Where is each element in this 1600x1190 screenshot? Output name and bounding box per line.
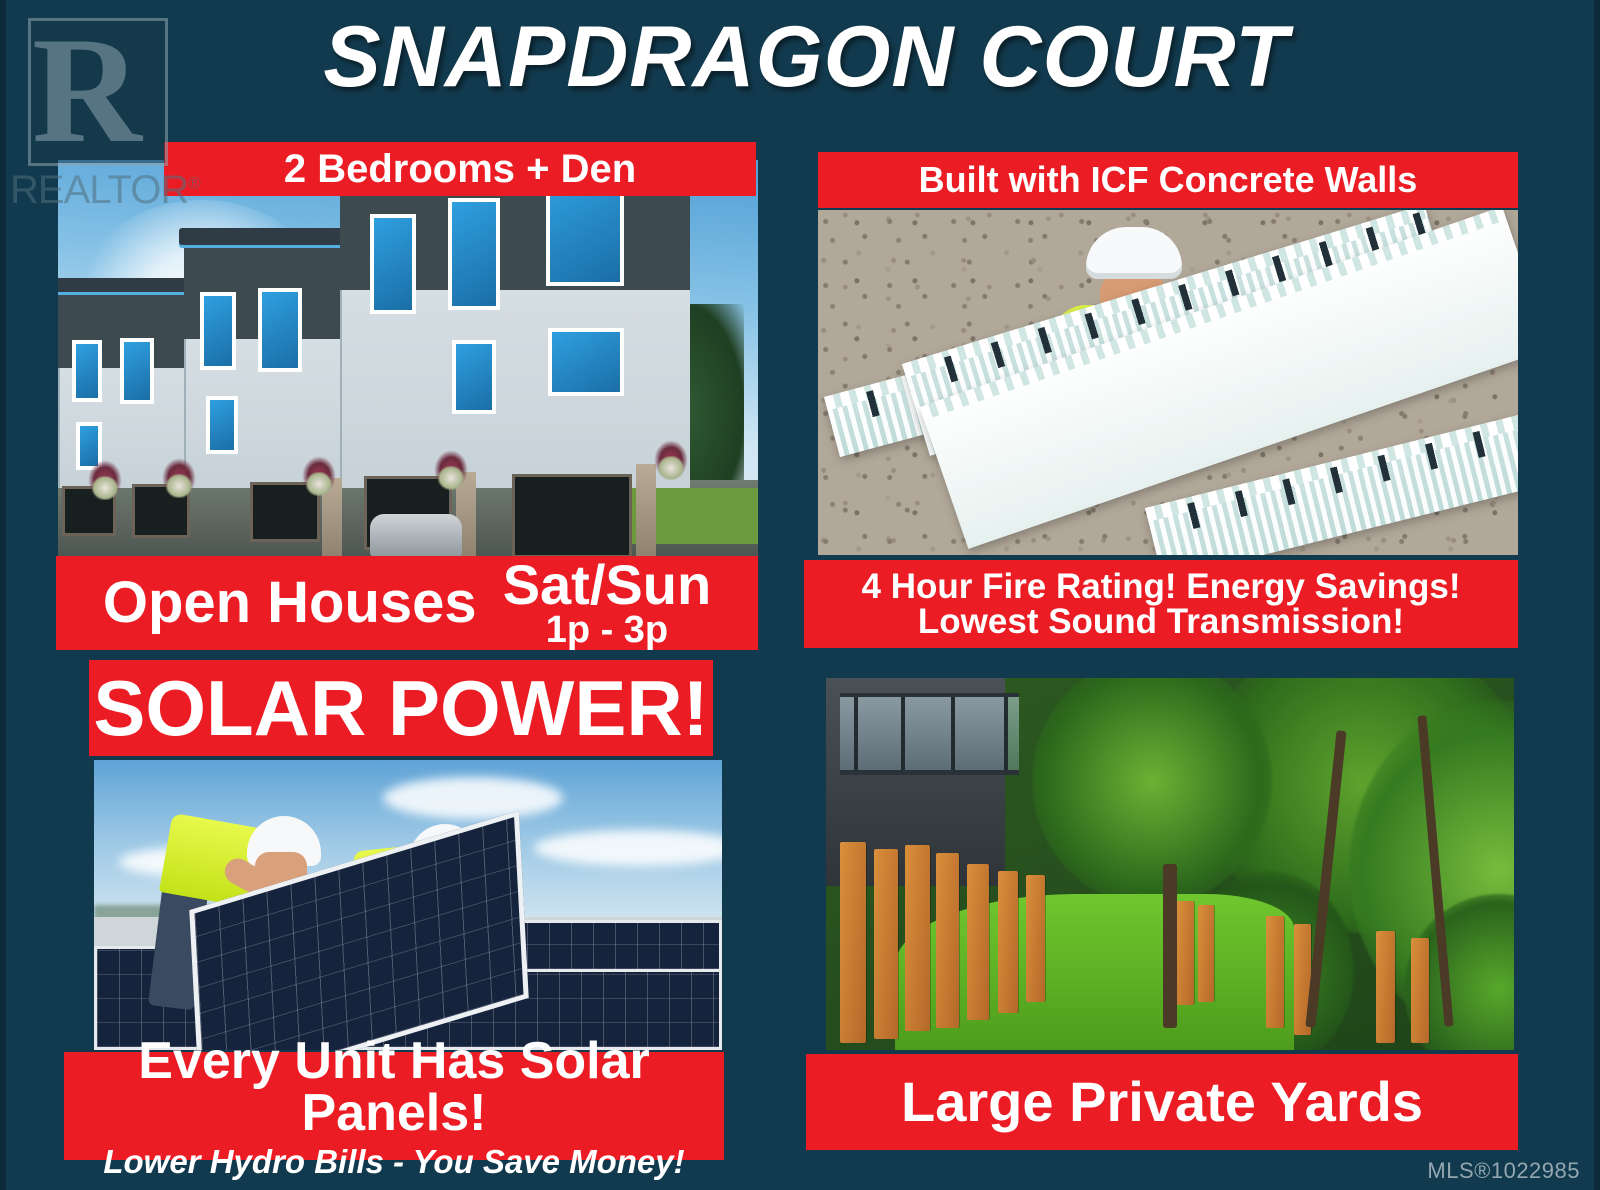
window — [452, 340, 496, 414]
cedar-fence-board — [1376, 931, 1395, 1043]
hanging-flower-basket — [654, 440, 688, 480]
cedar-fence-board — [840, 842, 866, 1043]
bedrooms-banner-text: 2 Bedrooms + Den — [284, 149, 636, 189]
icf-banner: Built with ICF Concrete Walls — [818, 152, 1518, 208]
yards-banner: Large Private Yards — [806, 1054, 1518, 1150]
townhouse-unit-mid — [184, 240, 344, 488]
window — [120, 338, 154, 404]
cedar-fence-board — [967, 864, 989, 1020]
tree-trunk — [1163, 864, 1177, 1028]
hanging-flower-basket — [434, 450, 468, 490]
open-house-banner: Open Houses Sat/Sun 1p - 3p — [56, 556, 758, 650]
window — [448, 198, 500, 310]
hanging-flower-basket — [88, 460, 122, 500]
townhouse-photo — [58, 160, 758, 560]
solar-power-banner: SOLAR POWER! — [89, 660, 713, 756]
cedar-fence-board — [874, 849, 898, 1039]
railing-post — [901, 697, 905, 770]
cedar-fence-board — [998, 871, 1018, 1012]
hanging-flower-basket — [162, 458, 196, 498]
flyer-canvas: SNAPDRAGON COURT R REALTOR® — [0, 0, 1600, 1190]
page-title: SNAPDRAGON COURT — [6, 8, 1600, 107]
yards-banner-text: Large Private Yards — [901, 1074, 1423, 1130]
window — [72, 340, 102, 402]
solar-power-text: SOLAR POWER! — [93, 669, 708, 747]
garage-pillar — [636, 464, 656, 560]
garage-door — [512, 474, 632, 558]
unit-roof — [58, 278, 192, 292]
icf-banner-text: Built with ICF Concrete Walls — [919, 162, 1418, 198]
cedar-fence-board — [1411, 938, 1429, 1042]
cedar-fence-board — [1177, 901, 1194, 1005]
solar-benefits-banner: Every Unit Has Solar Panels! Lower Hydro… — [64, 1052, 724, 1160]
icf-construction-photo — [818, 210, 1518, 555]
cedar-fence-board — [1026, 875, 1045, 1001]
townhouse-unit-front — [340, 160, 690, 488]
window — [258, 288, 302, 372]
window — [200, 292, 236, 370]
balcony-glass-railing — [840, 693, 1019, 775]
cedar-fence-board — [905, 845, 930, 1031]
solar-benefit-line2: Lower Hydro Bills - You Save Money! — [103, 1145, 684, 1178]
cedar-fence-board — [936, 853, 959, 1028]
unit-roof — [179, 228, 349, 245]
railing-post — [854, 697, 858, 770]
icf-benefits-banner: 4 Hour Fire Rating! Energy Savings! Lowe… — [804, 560, 1518, 648]
bedrooms-banner: 2 Bedrooms + Den — [164, 142, 756, 196]
hanging-flower-basket — [302, 456, 336, 496]
icf-benefit-line1: 4 Hour Fire Rating! Energy Savings! — [862, 569, 1461, 604]
open-house-days: Sat/Sun — [503, 558, 711, 611]
cedar-fence-board — [1266, 916, 1284, 1028]
hard-hat-icon — [1086, 227, 1182, 279]
window — [548, 328, 624, 396]
railing-post — [951, 697, 955, 770]
parked-car — [370, 514, 462, 558]
window — [370, 214, 416, 314]
open-house-time: 1p - 3p — [503, 612, 711, 648]
solar-benefit-line1: Every Unit Has Solar Panels! — [64, 1035, 724, 1139]
mls-number: MLS®1022985 — [1427, 1158, 1580, 1184]
window — [206, 396, 238, 454]
cloud — [534, 830, 722, 866]
railing-post — [1004, 697, 1008, 770]
solar-install-photo — [94, 760, 722, 1050]
private-yard-photo — [826, 678, 1514, 1050]
open-house-label: Open Houses — [103, 574, 477, 632]
icf-benefit-line2: Lowest Sound Transmission! — [918, 604, 1404, 639]
cedar-fence-board — [1198, 905, 1214, 1002]
